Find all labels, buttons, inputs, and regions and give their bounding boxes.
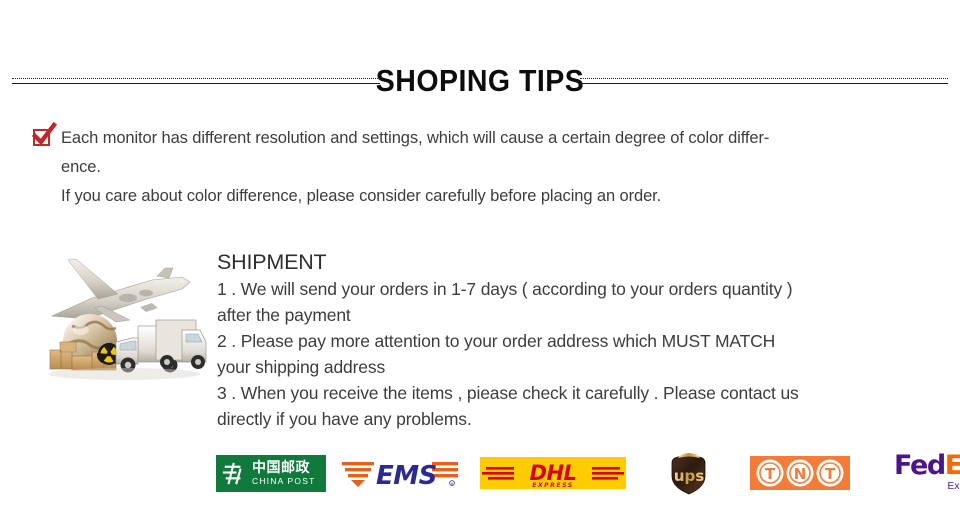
- ems-mark-icon: EMS R: [340, 453, 460, 493]
- fedex-wordmark: FedEx.: [894, 450, 960, 481]
- fedex-logo: FedEx. Express: [894, 453, 960, 493]
- fedex-express-text: Express: [894, 481, 960, 492]
- shipment-item-3-line-1: 3 . When you receive the items , piease …: [217, 380, 932, 406]
- china-post-name-en: CHINA POST: [252, 477, 315, 486]
- china-post-name-cn: 中国邮政: [252, 461, 315, 475]
- notice-line-1: Each monitor has different resolution an…: [61, 124, 769, 153]
- list-item: 1 . We will send your orders in 1-7 days…: [217, 276, 932, 328]
- dhl-mark-icon: DHL EXPRESS: [480, 457, 626, 489]
- shipment-section: SHIPMENT 1 . We will send your orders in…: [217, 248, 932, 432]
- shipping-illustration: [32, 246, 210, 386]
- list-item: 2 . Please pay more attention to your or…: [217, 328, 932, 380]
- shipment-heading: SHIPMENT: [217, 248, 932, 276]
- dhl-logo: DHL EXPRESS: [480, 457, 626, 489]
- svg-text:EXPRESS: EXPRESS: [532, 482, 573, 489]
- ups-logo: ups: [670, 452, 708, 495]
- notice-text: Each monitor has different resolution an…: [61, 124, 769, 211]
- fedex-fed-text: Fed: [894, 450, 945, 481]
- china-post-text: 中国邮政 CHINA POST: [252, 461, 315, 486]
- shipment-item-1-line-1: 1 . We will send your orders in 1-7 days…: [217, 276, 932, 302]
- page-header: SHOPING TIPS: [0, 62, 960, 108]
- ups-shield-icon: ups: [670, 452, 708, 495]
- carrier-logos: 中国邮政 CHINA POST EMS R: [216, 449, 932, 497]
- svg-text:N: N: [794, 465, 807, 483]
- shipment-item-3-line-2: directly if you have any problems.: [217, 406, 932, 432]
- fedex-ex-text: Ex: [945, 450, 960, 481]
- china-post-mark-icon: [221, 460, 248, 487]
- notice-line-2: ence.: [61, 153, 769, 182]
- shipment-list: 1 . We will send your orders in 1-7 days…: [217, 276, 932, 432]
- china-post-logo: 中国邮政 CHINA POST: [216, 455, 326, 492]
- svg-text:EMS: EMS: [376, 461, 437, 491]
- shipment-item-2-line-2: your shipping address: [217, 354, 932, 380]
- header-rule-right-solid: [580, 83, 948, 84]
- tnt-logo: T N T: [750, 456, 850, 490]
- notice-line-3: If you care about color difference, plea…: [61, 182, 769, 211]
- header-rule-right-dotted: [580, 78, 948, 79]
- list-item: 3 . When you receive the items , piease …: [217, 380, 932, 432]
- ems-logo: EMS R: [340, 453, 460, 493]
- svg-text:ups: ups: [674, 467, 704, 485]
- color-difference-notice: Each monitor has different resolution an…: [33, 124, 933, 211]
- red-check-box-icon: [33, 129, 50, 146]
- airplane-shape: [52, 259, 190, 322]
- svg-text:T: T: [765, 465, 776, 483]
- tnt-mark-icon: T N T: [753, 458, 847, 488]
- shipment-item-1-line-2: after the payment: [217, 302, 932, 328]
- shipment-item-2-line-1: 2 . Please pay more attention to your or…: [217, 328, 932, 354]
- svg-text:T: T: [825, 465, 836, 483]
- header-rule-right: [580, 78, 948, 86]
